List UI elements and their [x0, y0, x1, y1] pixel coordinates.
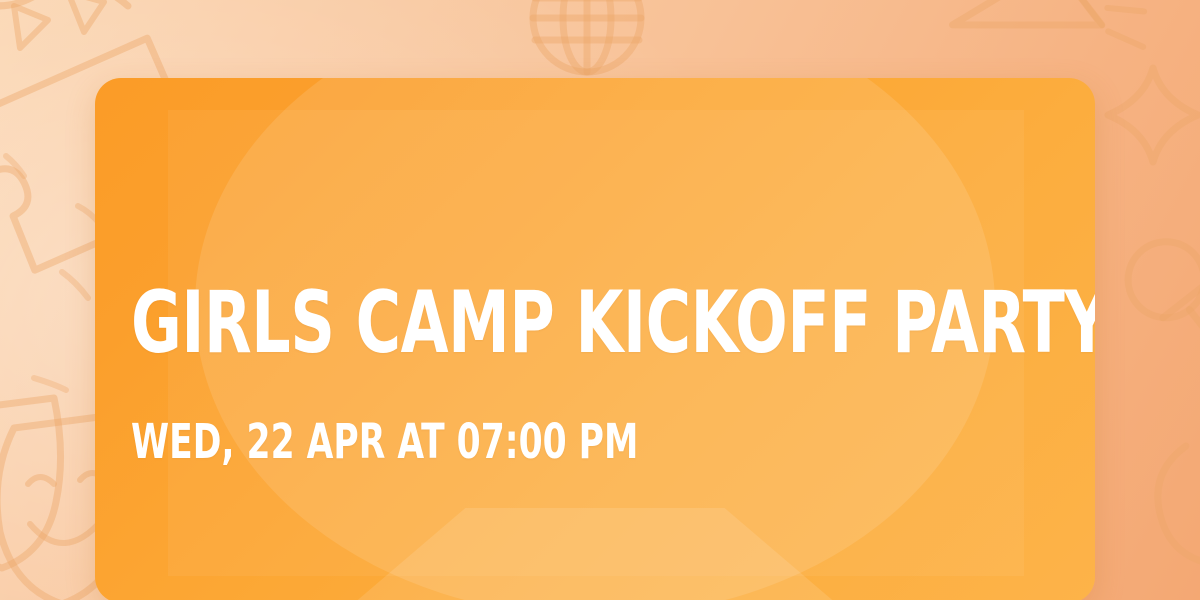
- event-datetime: Wed, 22 Apr at 07:00 PM: [131, 418, 638, 466]
- event-text-block: Girls Camp Kickoff Party! Wed, 22 Apr at…: [131, 78, 1051, 600]
- event-card[interactable]: Girls Camp Kickoff Party! Wed, 22 Apr at…: [95, 78, 1095, 600]
- event-banner: Girls Camp Kickoff Party! Wed, 22 Apr at…: [0, 0, 1200, 600]
- page-title: Girls Camp Kickoff Party!: [131, 283, 1095, 365]
